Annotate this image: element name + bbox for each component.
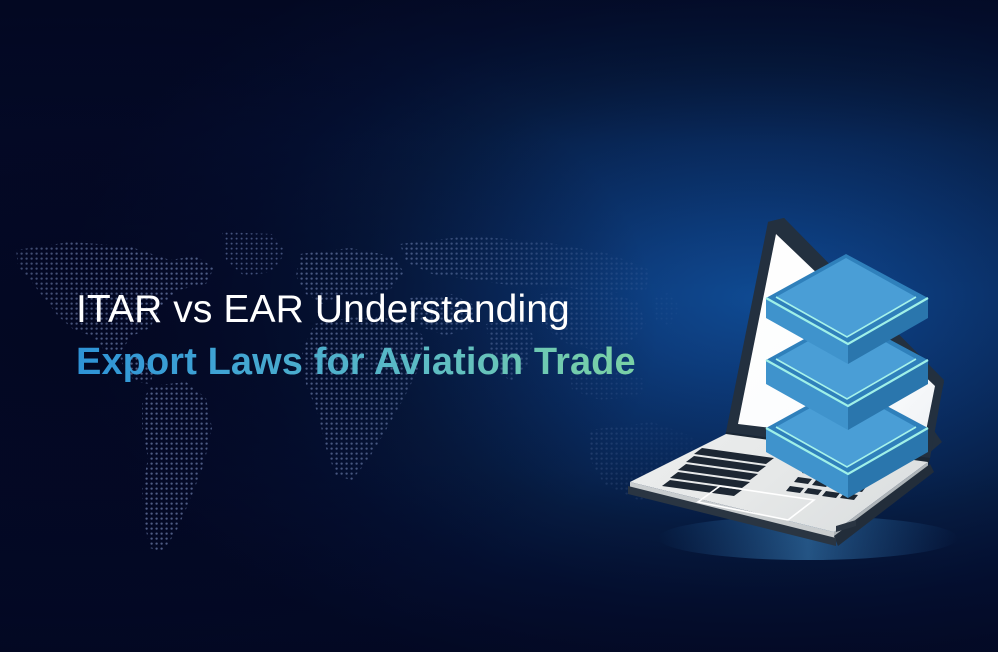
hero-banner: ITAR vs EAR Understanding Export Laws fo… <box>0 0 998 652</box>
stacked-data-layers <box>766 254 928 498</box>
laptop-illustration <box>598 196 998 568</box>
